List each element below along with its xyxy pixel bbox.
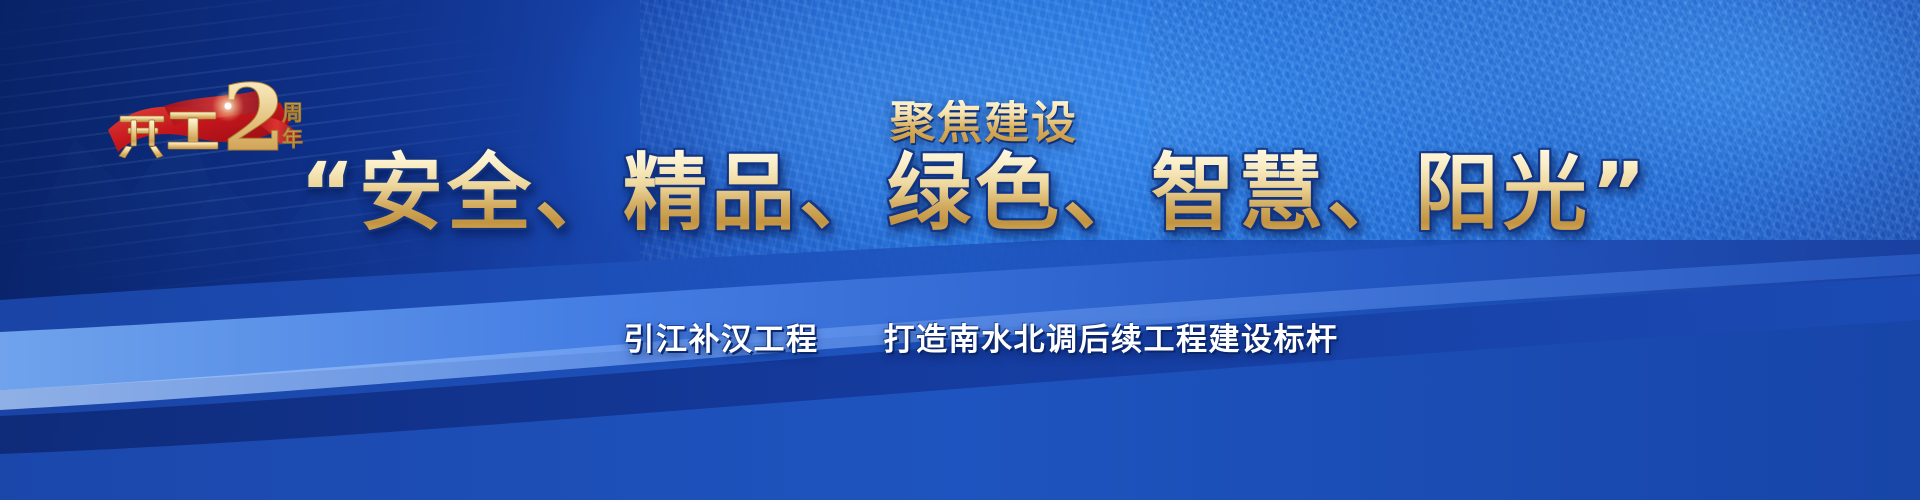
headline: “安全、精品、绿色、智慧、阳光” [0, 148, 1920, 239]
eyebrow-text: 聚焦建设 [0, 100, 1920, 145]
anniversary-banner: 2 周 年 聚焦建设 “安全、精品、绿色、智慧、阳光” 引江补汉工程 打造南水北… [0, 0, 1920, 500]
headline-text: “安全、精品、绿色、智慧、阳光” [300, 144, 1650, 242]
subtitle-text: 引江补汉工程 打造南水北调后续工程建设标杆 [0, 325, 1920, 356]
wave-ribbon-decoration [0, 240, 1920, 500]
